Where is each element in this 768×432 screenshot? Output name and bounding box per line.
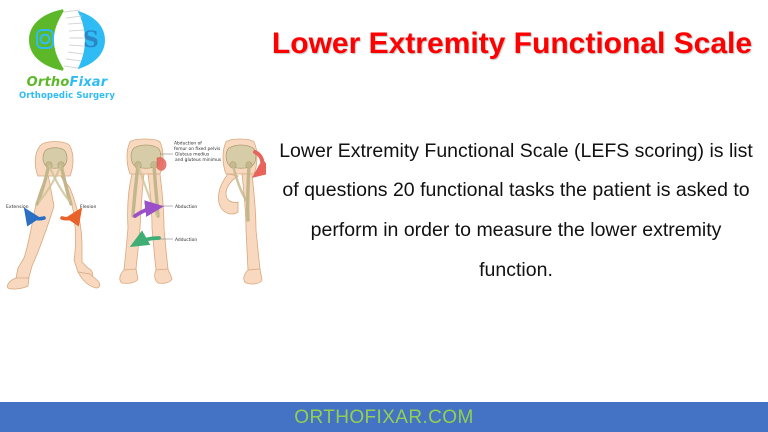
brand-wordmark: OrthoFixar bbox=[8, 76, 126, 89]
label-abduction: Abduction bbox=[175, 204, 197, 210]
orthofixar-spine-logo-icon: S bbox=[21, 6, 113, 74]
label-abduction-femur-line2: femur on fixed pelvis bbox=[174, 146, 221, 152]
brand-logo[interactable]: S OrthoFixar Orthopedic Surgery bbox=[8, 4, 126, 108]
footer-website-text[interactable]: ORTHOFIXAR.COM bbox=[294, 408, 473, 427]
brand-wordmark-part1: Ortho bbox=[27, 75, 70, 90]
hip-movements-anatomy-illustration: Extension Flexion bbox=[4, 138, 266, 296]
svg-text:S: S bbox=[83, 27, 99, 53]
page-title: Lower Extremity Functional Scale bbox=[262, 26, 762, 63]
brand-wordmark-part2: Fixar bbox=[69, 75, 107, 90]
label-adduction: Adduction bbox=[175, 237, 197, 243]
label-extension: Extension bbox=[6, 204, 29, 210]
figure-extension-flexion: Extension Flexion bbox=[6, 142, 100, 290]
label-gluteus-line1: Gluteus medius bbox=[175, 152, 210, 158]
brand-tagline: Orthopedic Surgery bbox=[8, 92, 126, 101]
description-paragraph: Lower Extremity Functional Scale (LEFS s… bbox=[276, 132, 756, 292]
slide-page: S OrthoFixar Orthopedic Surgery Lower Ex… bbox=[0, 0, 768, 432]
figure-single-leg-stance bbox=[218, 139, 262, 284]
label-gluteus-line2: and gluteus minimus bbox=[175, 157, 222, 163]
label-flexion: Flexion bbox=[80, 204, 96, 210]
figure-abduction-adduction: Abduction of femur on fixed pelvis Glute… bbox=[120, 139, 222, 283]
label-abduction-femur-line1: Abduction of bbox=[174, 141, 202, 147]
footer-bar: ORTHOFIXAR.COM bbox=[0, 402, 768, 432]
